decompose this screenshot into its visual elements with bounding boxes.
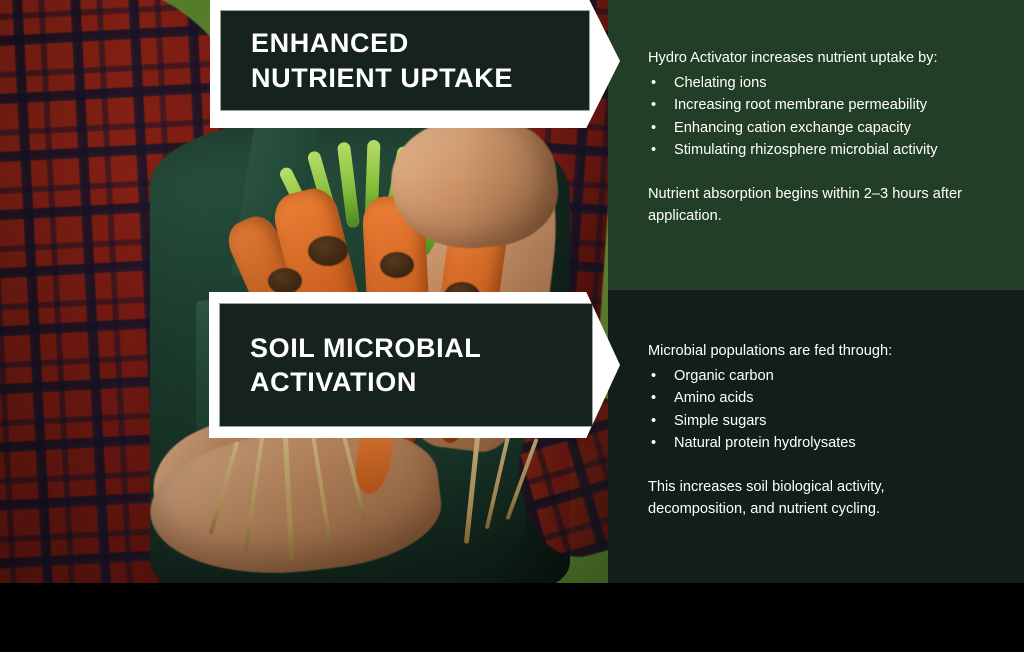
section-2-closing: This increases soil biological activity,… [648, 477, 1008, 520]
list-item-label: Natural protein hydrolysates [674, 435, 856, 451]
section-1-banner-inner: ENHANCED NUTRIENT UPTAKE [220, 10, 590, 111]
slide-canvas: ENHANCED NUTRIENT UPTAKE SOIL MICROBIAL … [0, 0, 1024, 583]
list-item-label: Organic carbon [674, 368, 774, 384]
section-1-heading: ENHANCED NUTRIENT UPTAKE [221, 26, 513, 94]
list-item: • Chelating ions [648, 72, 1008, 95]
list-item-label: Enhancing cation exchange capacity [674, 120, 911, 136]
section-2-banner-inner: SOIL MICROBIAL ACTIVATION [219, 303, 593, 427]
closing-line: application. [648, 206, 1008, 228]
bullet-icon: • [651, 365, 656, 388]
bullet-icon: • [651, 117, 656, 140]
list-item-label: Simple sugars [674, 413, 766, 429]
list-item-label: Increasing root membrane permeability [674, 97, 927, 113]
section-1-bullet-list: • Chelating ions • Increasing root membr… [648, 72, 1008, 162]
list-item-label: Stimulating rhizosphere microbial activi… [674, 142, 938, 158]
section-1-banner: ENHANCED NUTRIENT UPTAKE [210, 0, 620, 128]
section-1-closing: Nutrient absorption begins within 2–3 ho… [648, 184, 1008, 227]
list-item: • Simple sugars [648, 410, 1008, 433]
bullet-icon: • [651, 139, 656, 162]
bullet-icon: • [651, 410, 656, 433]
section-2-bullet-list: • Organic carbon • Amino acids • Simple … [648, 365, 1008, 455]
section-1-text: Hydro Activator increases nutrient uptak… [648, 48, 1008, 227]
list-item: • Amino acids [648, 387, 1008, 410]
list-item: • Increasing root membrane permeability [648, 94, 1008, 117]
list-item: • Organic carbon [648, 365, 1008, 388]
closing-line: This increases soil biological activity, [648, 477, 1008, 499]
bullet-icon: • [651, 432, 656, 455]
list-item: • Enhancing cation exchange capacity [648, 117, 1008, 140]
bullet-icon: • [651, 94, 656, 117]
closing-line: decomposition, and nutrient cycling. [648, 499, 1008, 521]
section-2-lead: Microbial populations are fed through: [648, 341, 1008, 363]
closing-line: Nutrient absorption begins within 2–3 ho… [648, 184, 1008, 206]
slide-root: ENHANCED NUTRIENT UPTAKE SOIL MICROBIAL … [0, 0, 1024, 652]
list-item-label: Chelating ions [674, 75, 767, 91]
bottom-letterbox [0, 583, 1024, 652]
section-1-lead: Hydro Activator increases nutrient uptak… [648, 48, 1008, 70]
section-2-heading: SOIL MICROBIAL ACTIVATION [220, 331, 481, 399]
section-2-text: Microbial populations are fed through: •… [648, 341, 1008, 520]
list-item: • Stimulating rhizosphere microbial acti… [648, 139, 1008, 162]
list-item-label: Amino acids [674, 390, 754, 406]
list-item: • Natural protein hydrolysates [648, 432, 1008, 455]
bullet-icon: • [651, 72, 656, 95]
section-2-banner: SOIL MICROBIAL ACTIVATION [209, 292, 620, 438]
bullet-icon: • [651, 387, 656, 410]
